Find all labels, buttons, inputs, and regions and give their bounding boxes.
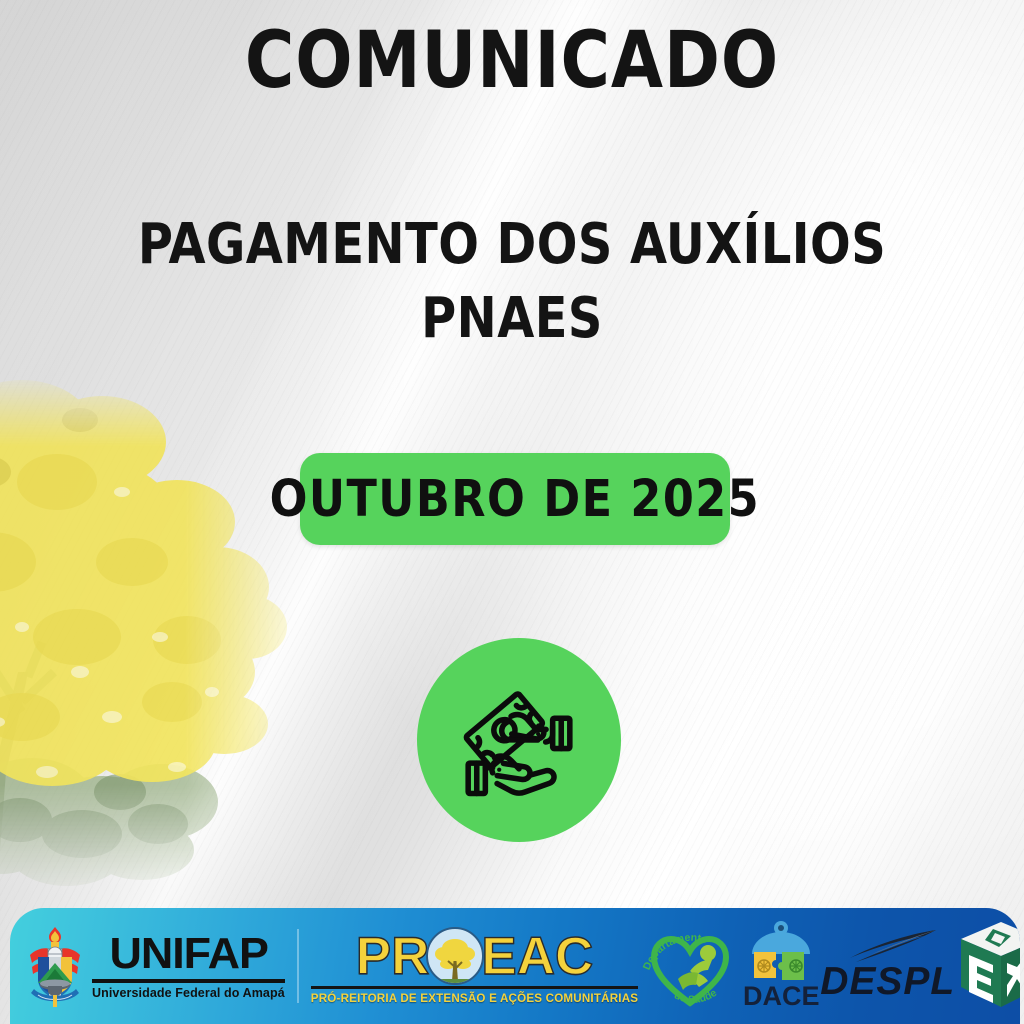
subtitle-block: PAGAMENTO DOS AUXÍLIOS PNAES (26, 208, 999, 356)
proeac-tree-emblem-icon (426, 927, 484, 985)
logo-dex (955, 919, 1020, 1013)
logo-despl: DESPL (820, 928, 955, 1004)
despl-wordmark: DESPL (820, 962, 955, 1001)
ipe-tree-decoration (0, 372, 322, 902)
unifap-subtitle: Universidade Federal do Amapá (92, 986, 285, 1000)
money-in-hands-icon (417, 638, 621, 842)
subtitle-line-2: PNAES (26, 282, 999, 356)
subtitle-line-1: PAGAMENTO DOS AUXÍLIOS (26, 208, 999, 282)
dace-puzzle-icon (742, 920, 820, 982)
page-title: COMUNICADO (20, 22, 1003, 102)
proeac-subtitle: PRÓ-REITORIA DE EXTENSÃO E AÇÕES COMUNIT… (311, 992, 638, 1005)
dex-cube-icon (955, 919, 1020, 1013)
logo-departamento-de-saude: Departamento de Saúde (638, 919, 742, 1013)
footer-divider (297, 929, 299, 1003)
month-badge-label: OUTUBRO DE 2025 (270, 470, 761, 529)
proeac-wordmark-left: PR (356, 930, 430, 983)
unifap-rule (92, 979, 285, 983)
proeac-wordmark-right: EAC (481, 930, 593, 983)
proeac-rule (311, 986, 638, 989)
unifap-wordmark: UNIFAP (109, 932, 267, 976)
poster-canvas: COMUNICADO PAGAMENTO DOS AUXÍLIOS PNAES … (0, 0, 1024, 1024)
footer-logo-bar: UNIFAP Universidade Federal do Amapá PR (10, 908, 1020, 1024)
svg-text:de Saúde: de Saúde (672, 987, 719, 1006)
logo-unifap: UNIFAP Universidade Federal do Amapá (20, 925, 285, 1007)
despl-swoosh-icon (836, 928, 940, 964)
heart-person-icon: Departamento de Saúde (638, 919, 742, 1013)
logo-proeac: PR (311, 927, 638, 1005)
month-badge: OUTUBRO DE 2025 (300, 453, 730, 545)
logo-dace: DACE (742, 920, 820, 1012)
dace-wordmark: DACE (743, 983, 820, 1010)
unifap-crest-icon (26, 925, 84, 1007)
